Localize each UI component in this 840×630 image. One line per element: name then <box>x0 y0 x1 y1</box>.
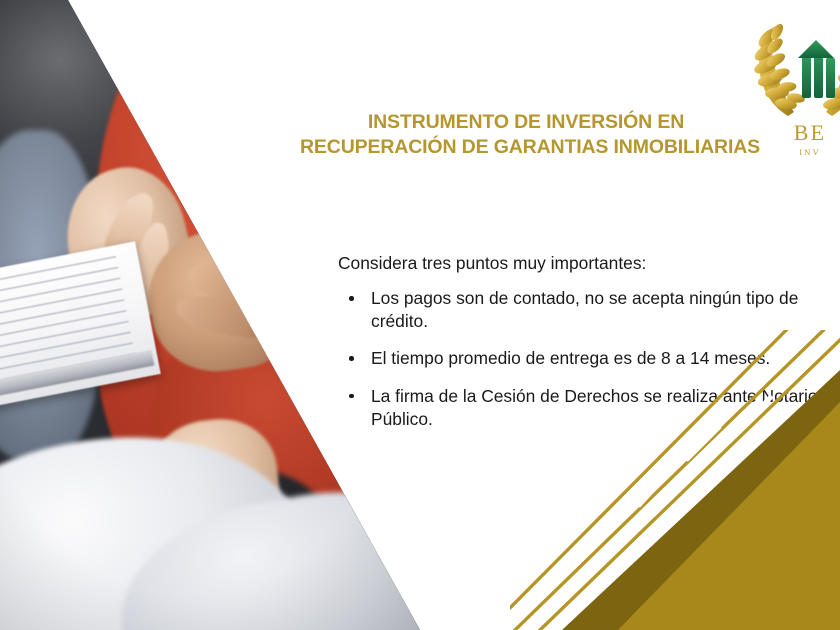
bullet-list: Los pagos son de contado, no se acepta n… <box>338 287 834 431</box>
bullet-text: La firma de la Cesión de Derechos se rea… <box>371 386 818 429</box>
bullet-dot-icon <box>349 296 354 301</box>
list-item: El tiempo promedio de entrega es de 8 a … <box>338 347 834 370</box>
company-logo: BE INV <box>746 8 840 168</box>
body-lead-text: Considera tres puntos muy importantes: <box>338 252 834 275</box>
laurel-wreath-icon <box>746 8 840 130</box>
bullet-text: El tiempo promedio de entrega es de 8 a … <box>371 348 770 368</box>
presentation-slide: INSTRUMENTO DE INVERSIÓN EN RECUPERACIÓN… <box>0 0 840 630</box>
bullet-text: Los pagos son de contado, no se acepta n… <box>371 288 798 331</box>
bullet-dot-icon <box>349 394 354 399</box>
title-line-2: RECUPERACIÓN DE GARANTIAS INMOBILIARIAS <box>300 135 752 160</box>
slide-body: Considera tres puntos muy importantes: L… <box>338 252 834 431</box>
slide-title: INSTRUMENTO DE INVERSIÓN EN RECUPERACIÓN… <box>300 110 752 159</box>
title-line-1: INSTRUMENTO DE INVERSIÓN EN <box>300 110 752 135</box>
logo-wordmark-group: BE INV <box>746 122 840 157</box>
list-item: Los pagos son de contado, no se acepta n… <box>338 287 834 333</box>
logo-wordmark: BE <box>746 122 840 144</box>
list-item: La firma de la Cesión de Derechos se rea… <box>338 385 834 431</box>
logo-tagline: INV <box>746 148 840 157</box>
bullet-dot-icon <box>349 356 354 361</box>
